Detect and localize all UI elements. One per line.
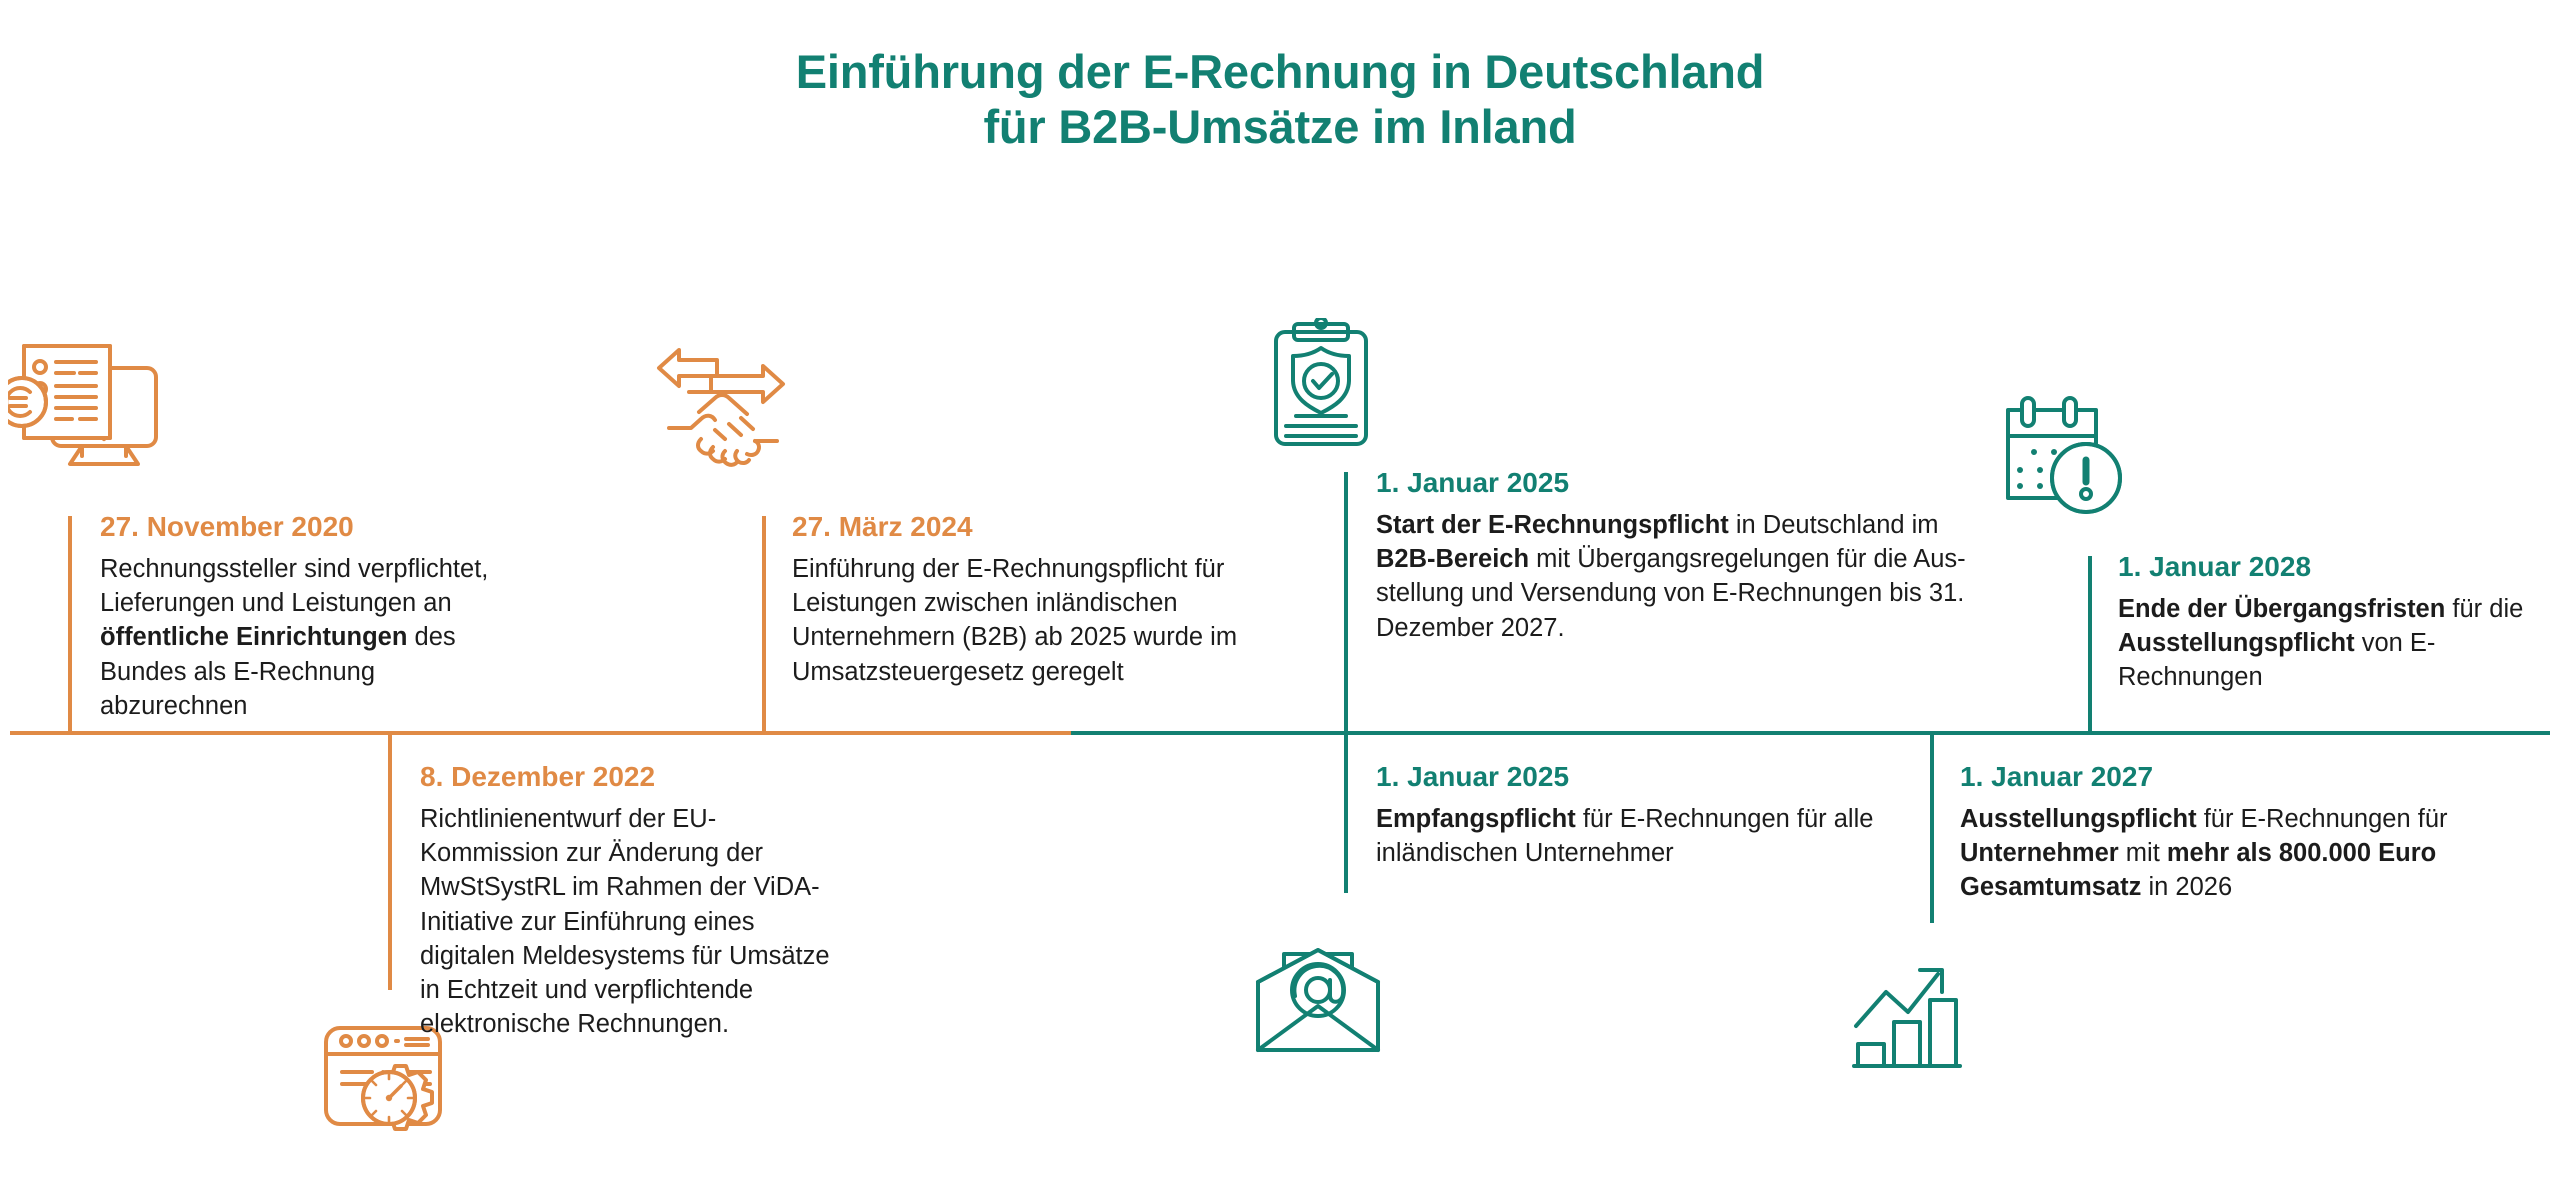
clipboard-shield-check-icon <box>1268 318 1374 450</box>
connector-2028-01-01 <box>2088 556 2092 733</box>
connector-2020-11-27 <box>68 516 72 733</box>
infographic-canvas: Einführung der E-Rechnung in Deutschland… <box>0 0 2560 1194</box>
entry-body: Richtlinienentwurf der EU-Kommission zur… <box>420 802 840 1041</box>
growth-bar-chart-icon <box>1852 952 1982 1076</box>
entry-date: 1. Januar 2028 <box>2118 550 2558 583</box>
timeline-axis-teal-segment <box>1071 731 2550 735</box>
timeline-entry-2028-01-01: 1. Januar 2028 Ende der Übergangsfristen… <box>2118 550 2558 695</box>
envelope-at-icon <box>1250 944 1390 1060</box>
page-title-line-2: für B2B-Umsätze im Inland <box>0 100 2560 155</box>
timeline-entry-2020-11-27: 27. November 2020 Rechnungssteller sind … <box>100 510 500 723</box>
entry-date: 27. März 2024 <box>792 510 1332 543</box>
timeline-entry-2025-01-01-empfang: 1. Januar 2025 Empfangspflicht für E-Rec… <box>1376 760 1936 870</box>
entry-date: 1. Januar 2025 <box>1376 760 1936 793</box>
connector-2025-01-01-empfang <box>1344 733 1348 893</box>
timeline-entry-2022-12-08: 8. Dezember 2022 Richtlinienentwurf der … <box>420 760 840 1041</box>
connector-2022-12-08 <box>388 733 392 990</box>
entry-date: 1. Januar 2027 <box>1960 760 2530 793</box>
connector-2024-03-27 <box>762 516 766 733</box>
entry-body: Start der E-Rechnungspflicht in Deutschl… <box>1376 508 1966 645</box>
monitor-invoice-euro-icon <box>8 340 176 470</box>
calendar-alert-icon <box>2002 392 2126 518</box>
entry-body: Rechnungssteller sind verpflichtet, Lief… <box>100 552 500 723</box>
timeline-entry-2025-01-01-start: 1. Januar 2025 Start der E-Rechnungspfli… <box>1376 466 1966 645</box>
page-title: Einführung der E-Rechnung in Deutschland… <box>0 45 2560 155</box>
entry-body: Empfangspflicht für E-Rechnungen für all… <box>1376 802 1936 870</box>
entry-body: Einführung der E-Rechnungspflicht für Le… <box>792 552 1332 689</box>
timeline-axis-orange-segment <box>10 731 1074 735</box>
entry-date: 27. November 2020 <box>100 510 500 543</box>
timeline-entry-2027-01-01: 1. Januar 2027 Ausstellungspflicht für E… <box>1960 760 2530 905</box>
connector-2025-01-01-start <box>1344 472 1348 733</box>
entry-date: 1. Januar 2025 <box>1376 466 1966 499</box>
page-title-line-1: Einführung der E-Rechnung in Deutschland <box>796 45 1765 98</box>
timeline-entry-2024-03-27: 27. März 2024 Einführung der E-Rechnungs… <box>792 510 1332 689</box>
entry-body: Ende der Übergangsfristen für die Ausste… <box>2118 592 2558 694</box>
handshake-exchange-arrows-icon <box>655 338 805 478</box>
entry-date: 8. Dezember 2022 <box>420 760 840 793</box>
entry-body: Ausstellungspflicht für E-Rechnungen für… <box>1960 802 2530 904</box>
